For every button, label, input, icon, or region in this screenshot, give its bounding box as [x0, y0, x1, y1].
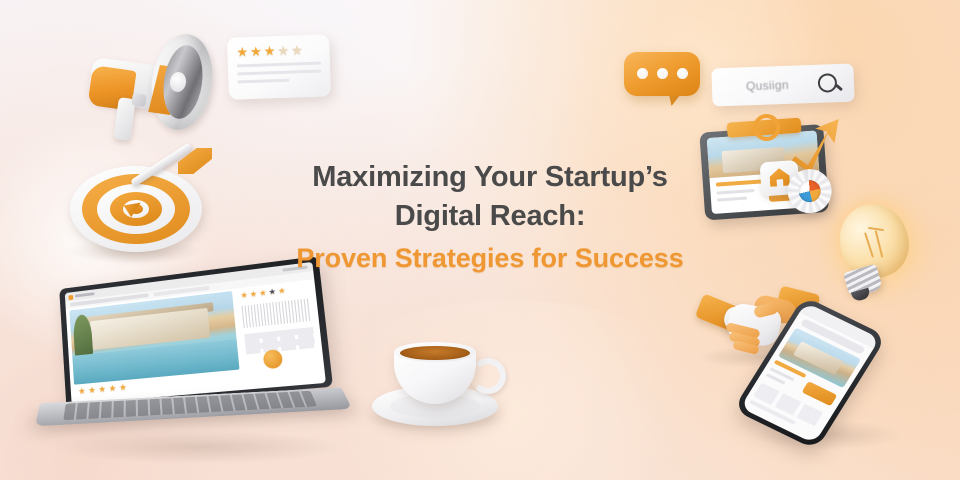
review-text-lines	[237, 62, 322, 89]
badge-icon	[263, 349, 284, 369]
star-icon: ★	[236, 45, 248, 58]
dot-icon	[637, 68, 648, 79]
star-icon: ★	[98, 385, 106, 394]
headline-line-1: Maximizing Your Startup’s	[240, 158, 740, 197]
laptop: ★ ★ ★ ★ ★ ★ ★ ★ ★ ★	[40, 272, 350, 452]
star-icon: ★	[119, 383, 127, 393]
star-icon: ★	[78, 387, 86, 396]
headline-line-3-accent: Proven Strategies for Success	[240, 239, 740, 277]
dot-icon	[677, 68, 688, 79]
sidebar-panel: ★ ★ ★ ★ ★	[238, 282, 319, 369]
chat-bubble-icon	[624, 52, 702, 110]
star-icon: ★	[108, 384, 116, 394]
target-icon	[66, 160, 206, 260]
search-icon[interactable]	[818, 73, 838, 93]
review-star-rating: ★ ★ ★ ★ ★	[236, 43, 303, 58]
text-line	[237, 79, 289, 84]
cta-button[interactable]	[802, 381, 838, 406]
star-icon: ★	[268, 288, 276, 297]
megaphone-icon	[74, 28, 224, 143]
star-icon: ★	[240, 291, 248, 300]
star-icon: ★	[259, 289, 267, 298]
star-icon-empty: ★	[277, 44, 289, 57]
coffee-liquid	[400, 346, 470, 360]
star-icon: ★	[88, 386, 96, 395]
star-icon: ★	[278, 287, 286, 296]
star-icon: ★	[249, 290, 257, 299]
search-bar[interactable]: Qusiign	[711, 64, 854, 107]
dot-icon	[657, 68, 668, 79]
text-line	[237, 62, 321, 68]
sidebar-star-rating: ★ ★ ★ ★ ★	[240, 287, 286, 300]
bar-chart	[242, 298, 313, 328]
headline: Maximizing Your Startup’s Digital Reach:…	[240, 158, 740, 277]
option-grid	[244, 327, 315, 354]
smartphone	[756, 300, 896, 450]
background-glow-bottom-center	[300, 300, 720, 480]
review-card: ★ ★ ★ ★ ★	[227, 34, 331, 100]
site-logo-icon	[68, 294, 73, 299]
star-icon: ★	[264, 44, 276, 57]
star-icon: ★	[250, 45, 262, 58]
marketing-banner: ★ ★ ★ ★ ★ Qusiign	[0, 0, 960, 480]
listing-star-rating: ★ ★ ★ ★ ★	[78, 383, 127, 396]
star-icon-empty: ★	[291, 43, 303, 56]
coffee-cup	[372, 334, 500, 430]
search-input-text[interactable]: Qusiign	[746, 78, 789, 93]
chat-bubble-dots	[637, 68, 688, 79]
headline-line-2: Digital Reach:	[240, 197, 740, 236]
search-icon-handle	[835, 84, 843, 91]
text-line	[237, 70, 321, 76]
lightbulb-icon	[824, 198, 932, 304]
megaphone-trigger	[131, 93, 147, 107]
